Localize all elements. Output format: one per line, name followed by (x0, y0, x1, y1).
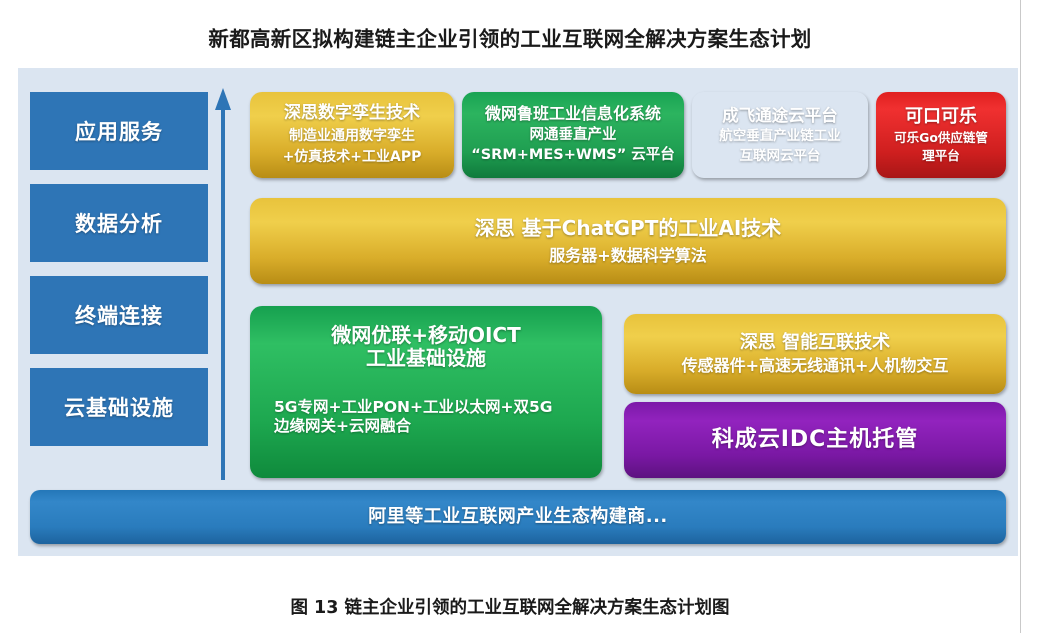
node-chengfei-cloud-platform[interactable]: 成飞通途云平台 航空垂直产业链工业 互联网云平台 (692, 92, 868, 178)
node-subtext-line-1: 服务器+数据科学算法 (549, 246, 706, 265)
node-subtext-line-2: 理平台 (922, 148, 960, 163)
figure-caption: 图 13 链主企业引领的工业互联网全解决方案生态计划图 (0, 594, 1020, 619)
node-digital-twin[interactable]: 深思数字孪生技术 制造业通用数字孪生 +仿真技术+工业APP (250, 92, 454, 178)
node-subtext-line-2: +仿真技术+工业APP (283, 149, 422, 166)
node-heading-line-1: 微网优联+移动OICT (331, 324, 521, 347)
node-coca-cola[interactable]: 可口可乐 可乐Go供应链管 理平台 (876, 92, 1006, 178)
node-subtext-line-2: 互联网云平台 (740, 148, 821, 164)
node-heading: 阿里等工业互联网产业生态构建商... (368, 507, 668, 528)
upward-arrow-icon (214, 88, 232, 480)
node-chatgpt-industrial-ai[interactable]: 深思 基于ChatGPT的工业AI技术 服务器+数据科学算法 (250, 198, 1006, 284)
node-ecosystem-builders[interactable]: 阿里等工业互联网产业生态构建商... (30, 490, 1006, 544)
layer-label-cloud-infrastructure[interactable]: 云基础设施 (30, 368, 208, 446)
layer-label-text: 云基础设施 (64, 392, 174, 422)
layer-label-application-service[interactable]: 应用服务 (30, 92, 208, 170)
layer-label-data-analysis[interactable]: 数据分析 (30, 184, 208, 262)
node-subtext-line-2: 边缘网关+云网融合 (256, 417, 596, 436)
page-title: 新都高新区拟构建链主企业引领的工业互联网全解决方案生态计划 (0, 22, 1020, 52)
page-border-rule (1020, 0, 1021, 633)
node-subtext-line-1: 传感器件+高速无线通讯+人机物交互 (682, 356, 949, 375)
diagram-panel: 应用服务 数据分析 终端连接 云基础设施 深思数字孪生技术 制造业通用数字孪生 … (18, 68, 1018, 556)
layer-label-text: 终端连接 (75, 300, 163, 330)
layer-label-terminal-connection[interactable]: 终端连接 (30, 276, 208, 354)
node-heading: 深思 基于ChatGPT的工业AI技术 (475, 217, 782, 240)
node-heading: 科成云IDC主机托管 (712, 427, 919, 453)
layer-label-text: 应用服务 (75, 116, 163, 146)
page-root: 新都高新区拟构建链主企业引领的工业互联网全解决方案生态计划 应用服务 数据分析 … (0, 0, 1039, 633)
node-subtext-line-1: 航空垂直产业链工业 (719, 128, 841, 144)
node-heading: 深思数字孪生技术 (284, 104, 420, 124)
node-heading: 可口可乐 (905, 107, 977, 128)
node-subtext-line-1: 可乐Go供应链管 (894, 130, 988, 145)
node-heading: 深思 智能互联技术 (740, 333, 890, 354)
layer-label-text: 数据分析 (75, 208, 163, 238)
node-heading-line-2: 工业基础设施 (366, 347, 486, 370)
node-smart-connectivity[interactable]: 深思 智能互联技术 传感器件+高速无线通讯+人机物交互 (624, 314, 1006, 394)
node-heading: 微网鲁班工业信息化系统 (485, 105, 661, 124)
node-subtext-line-2: “SRM+MES+WMS” 云平台 (471, 147, 675, 164)
node-heading: 成飞通途云平台 (722, 106, 838, 125)
node-weiwang-luban[interactable]: 微网鲁班工业信息化系统 网通垂直产业 “SRM+MES+WMS” 云平台 (462, 92, 684, 178)
node-subtext-line-1: 制造业通用数字孪生 (289, 128, 415, 145)
node-oict-infrastructure[interactable]: 微网优联+移动OICT 工业基础设施 5G专网+工业PON+工业以太网+双5G … (250, 306, 602, 478)
node-subtext-line-1: 网通垂直产业 (530, 127, 617, 144)
node-kecheng-idc-hosting[interactable]: 科成云IDC主机托管 (624, 402, 1006, 478)
node-subtext-line-1: 5G专网+工业PON+工业以太网+双5G (256, 398, 596, 417)
